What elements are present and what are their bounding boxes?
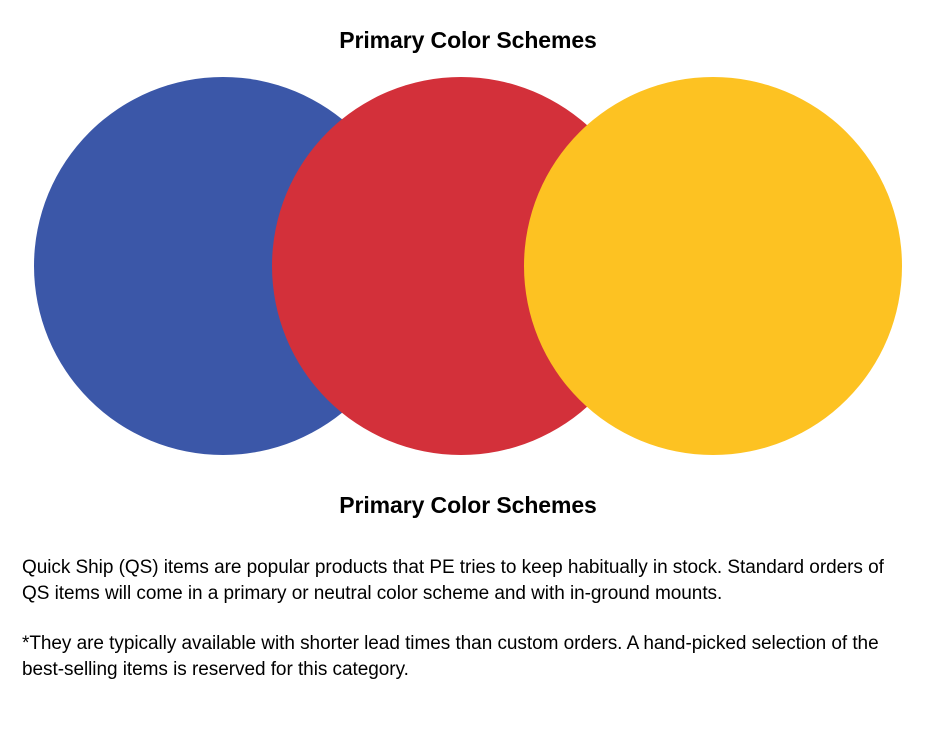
paragraph-lead-times: *They are typically available with short… [22,631,900,682]
paragraph-quick-ship: Quick Ship (QS) items are popular produc… [22,555,900,606]
slide-page: Primary Color Schemes Primary Color Sche… [0,0,936,736]
diagram-caption: Primary Color Schemes [0,492,936,519]
body-copy: Quick Ship (QS) items are popular produc… [22,555,900,682]
venn-diagram [0,0,936,480]
yellow-circle [524,77,902,455]
